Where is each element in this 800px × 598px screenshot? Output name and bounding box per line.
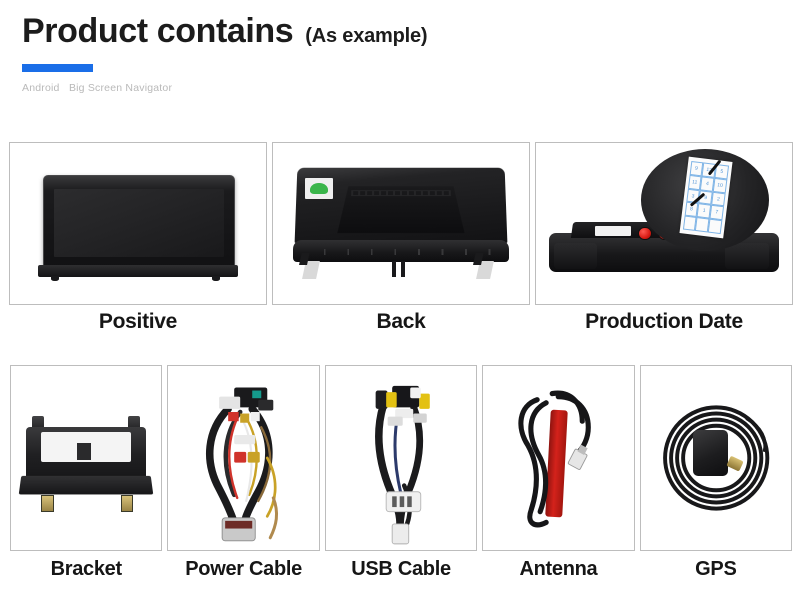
display-bezel [43, 175, 234, 269]
product-panel-power-cable[interactable] [167, 365, 319, 551]
accent-bar [22, 64, 93, 72]
bracket-tab-left [41, 495, 54, 512]
product-panel-back[interactable] [272, 142, 530, 305]
unit-wing-left [554, 243, 598, 269]
page-title: Product contains [22, 14, 293, 50]
date-cell: 10 [713, 177, 727, 192]
date-grid: 9 12 5 11 4 10 3 9 2 8 1 7 [683, 160, 729, 234]
caption-row-top: Positive Back Production Date [9, 310, 793, 334]
bracket-notch [77, 443, 91, 460]
rear-vents [351, 190, 451, 197]
rear-pin-right [401, 261, 405, 277]
caption-row-bottom: Bracket Power Cable USB Cable Antenna GP… [10, 558, 792, 581]
product-panel-positive[interactable] [9, 142, 267, 305]
caption-power-cable: Power Cable [167, 558, 319, 581]
date-cell: 2 [712, 191, 726, 206]
display-screen [54, 189, 224, 257]
gps-photo [641, 366, 791, 550]
caption-antenna: Antenna [482, 558, 634, 581]
antenna-cable [483, 366, 633, 550]
caption-production-date: Production Date [535, 310, 793, 334]
usb-harness-photo [326, 366, 476, 550]
gps-receiver [693, 430, 728, 476]
rear-bracket-left [302, 261, 320, 279]
date-cell [708, 219, 722, 234]
rear-bracket-right [476, 261, 494, 279]
product-panel-production-date[interactable]: 9 12 5 11 4 10 3 9 2 8 1 7 [535, 142, 793, 305]
date-cell: 7 [710, 205, 724, 220]
title-row: Product contains (As example) [22, 14, 782, 50]
page-title-note: (As example) [305, 25, 427, 48]
product-row-bottom [10, 365, 792, 551]
display-base [38, 265, 238, 276]
bracket-lip [19, 475, 154, 494]
front-display-photo [10, 143, 266, 304]
product-row-top: 9 12 5 11 4 10 3 9 2 8 1 7 [9, 142, 793, 305]
bracket-photo [11, 366, 161, 550]
tagline: Android Big Screen Navigator [22, 82, 782, 94]
rear-pin-left [392, 261, 396, 277]
product-panel-gps[interactable] [640, 365, 792, 551]
caption-bracket: Bracket [10, 558, 162, 581]
product-panel-usb-cable[interactable] [325, 365, 477, 551]
unit-wing-right [725, 243, 769, 269]
unit-white-label [595, 226, 631, 236]
caption-back: Back [272, 310, 530, 334]
magnifier-circle: 9 12 5 11 4 10 3 9 2 8 1 7 [641, 149, 769, 250]
production-date-sticker: 9 12 5 11 4 10 3 9 2 8 1 7 [680, 156, 733, 238]
product-panel-bracket[interactable] [10, 365, 162, 551]
page-header: Product contains (As example) Android Bi… [22, 14, 782, 94]
display-foot-right [212, 276, 220, 281]
product-panel-antenna[interactable] [482, 365, 634, 551]
caption-positive: Positive [9, 310, 267, 334]
caption-gps: GPS [640, 558, 792, 581]
caption-usb-cable: USB Cable [325, 558, 477, 581]
power-harness-photo [168, 366, 318, 550]
android-robot-icon [310, 183, 327, 194]
display-foot-left [51, 276, 59, 281]
production-date-photo: 9 12 5 11 4 10 3 9 2 8 1 7 [536, 143, 792, 304]
android-sticker [305, 178, 333, 199]
bracket-tab-right [121, 495, 134, 512]
rear-housing-photo [273, 143, 529, 304]
antenna-photo [483, 366, 633, 550]
